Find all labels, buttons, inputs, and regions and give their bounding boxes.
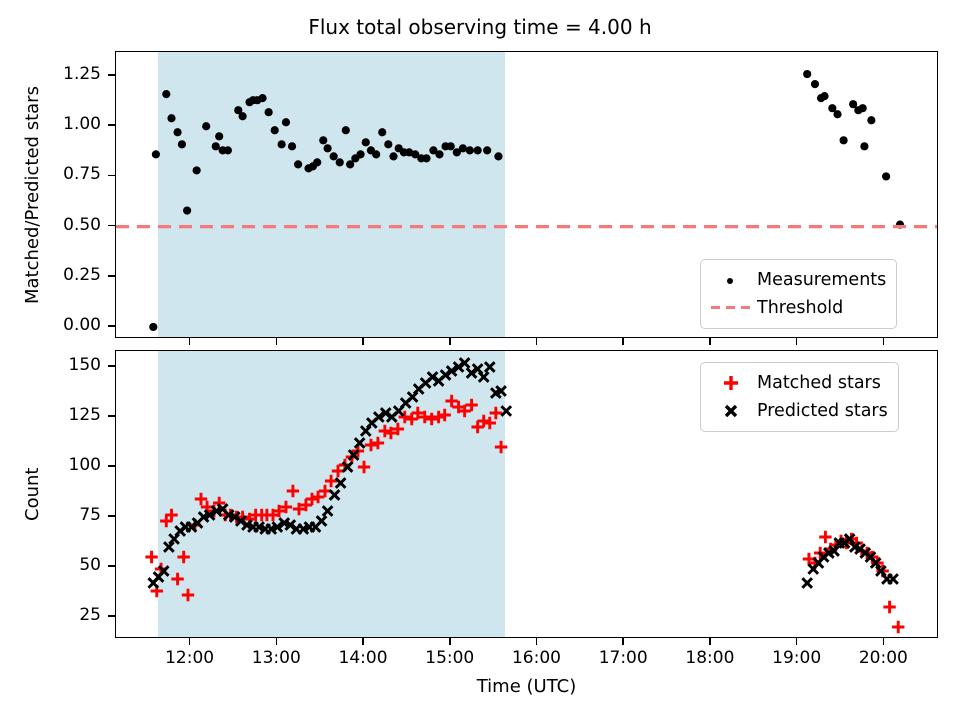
figure-title: Flux total observing time = 4.00 h — [0, 14, 960, 40]
matched-star-point — [306, 493, 318, 505]
top-y-tick-label: 0.25 — [0, 265, 101, 285]
legend-label-measurements: Measurements — [753, 270, 886, 290]
x-tick-label: 15:00 — [425, 648, 474, 668]
matched-star-point — [145, 551, 157, 563]
measurement-point — [162, 90, 170, 98]
measurement-point — [860, 142, 868, 150]
measurement-point — [494, 152, 502, 160]
legend-label-predicted-stars: Predicted stars — [753, 401, 888, 421]
measurement-point — [330, 152, 338, 160]
measurement-point — [149, 323, 157, 331]
top-x-tick-mark — [536, 338, 538, 345]
bottom-y-tick-mark — [108, 515, 115, 517]
bottom-panel-y-axis-label: Count — [22, 467, 43, 520]
top-y-tick-mark — [108, 325, 115, 327]
measurement-point — [435, 150, 443, 158]
top-x-tick-mark — [709, 338, 711, 345]
top-x-tick-mark — [189, 338, 191, 345]
x-axis-label: Time (UTC) — [115, 676, 938, 697]
measurement-point — [183, 206, 191, 214]
bottom-y-tick-label: 100 — [0, 455, 101, 475]
top-x-tick-mark — [622, 338, 624, 345]
x-tick-label: 16:00 — [512, 648, 561, 668]
measurements-dot-icon — [709, 266, 753, 294]
predicted-star-point — [336, 478, 346, 488]
measurement-point — [265, 108, 273, 116]
matched-star-point — [819, 531, 831, 543]
measurement-point — [447, 142, 455, 150]
matched-star-point — [471, 421, 483, 433]
top-panel-legend: Measurements Threshold — [700, 259, 897, 329]
measurement-point — [859, 104, 867, 112]
matched-star-point — [195, 493, 207, 505]
top-y-tick-mark — [108, 74, 115, 76]
legend-item-matched-stars[interactable]: Matched stars — [709, 369, 888, 397]
predicted-star-point — [479, 372, 489, 382]
measurement-point — [313, 158, 321, 166]
top-x-tick-mark — [796, 338, 798, 345]
predicted-cross-icon — [709, 397, 753, 425]
matched-star-point — [372, 437, 384, 449]
bottom-y-tick-label: 125 — [0, 405, 101, 425]
top-y-tick-label: 0.50 — [0, 215, 101, 235]
bottom-y-tick-label: 75 — [0, 505, 101, 525]
measurement-point — [378, 128, 386, 136]
x-tick-label: 13:00 — [252, 648, 301, 668]
predicted-star-point — [317, 516, 327, 526]
bottom-x-tick-mark — [449, 638, 451, 645]
matched-star-point — [312, 491, 324, 503]
measurement-point — [820, 92, 828, 100]
measurement-point — [173, 128, 181, 136]
top-y-tick-mark — [108, 275, 115, 277]
matched-star-point — [495, 441, 507, 453]
matched-star-point — [484, 417, 496, 429]
top-x-tick-mark — [883, 338, 885, 345]
measurement-point — [483, 146, 491, 154]
measurement-point — [152, 150, 160, 158]
measurement-point — [466, 146, 474, 154]
top-x-tick-mark — [276, 338, 278, 345]
top-y-tick-label: 0.75 — [0, 164, 101, 184]
bottom-y-tick-mark — [108, 365, 115, 367]
measurement-point — [362, 138, 370, 146]
measurement-point — [324, 144, 332, 152]
legend-item-threshold[interactable]: Threshold — [709, 294, 886, 322]
matched-star-point — [358, 461, 370, 473]
measurement-point — [389, 152, 397, 160]
bottom-y-tick-mark — [108, 465, 115, 467]
matched-star-point — [490, 407, 502, 419]
measurement-point — [271, 126, 279, 134]
predicted-star-point — [330, 490, 340, 500]
predicted-star-point — [501, 406, 511, 416]
top-y-tick-mark — [108, 175, 115, 177]
top-y-tick-label: 1.00 — [0, 114, 101, 134]
measurement-point — [178, 140, 186, 148]
legend-label-matched-stars: Matched stars — [753, 373, 881, 393]
bottom-x-tick-mark — [622, 638, 624, 645]
measurement-point — [258, 94, 266, 102]
measurement-point — [833, 110, 841, 118]
bottom-x-tick-mark — [709, 638, 711, 645]
measurement-point — [278, 140, 286, 148]
measurement-point — [356, 150, 364, 158]
threshold-dashed-line-icon — [709, 294, 753, 322]
matched-star-point — [406, 413, 418, 425]
matched-plus-icon — [709, 369, 753, 397]
top-y-tick-label: 0.00 — [0, 315, 101, 335]
measurement-point — [193, 166, 201, 174]
x-tick-label: 19:00 — [772, 648, 821, 668]
bottom-x-tick-mark — [189, 638, 191, 645]
matched-star-point — [365, 439, 377, 451]
measurement-point — [811, 80, 819, 88]
predicted-star-point — [323, 506, 333, 516]
predicted-star-point — [164, 542, 174, 552]
x-tick-label: 14:00 — [339, 648, 388, 668]
bottom-y-tick-mark — [108, 415, 115, 417]
top-x-tick-mark — [362, 338, 364, 345]
matched-star-point — [325, 475, 337, 487]
x-tick-label: 20:00 — [859, 648, 908, 668]
predicted-star-point — [355, 438, 365, 448]
legend-item-measurements[interactable]: Measurements — [709, 266, 886, 294]
bottom-x-tick-mark — [276, 638, 278, 645]
predicted-star-point — [485, 362, 495, 372]
matched-star-point — [171, 573, 183, 585]
bottom-y-tick-mark — [108, 615, 115, 617]
matched-star-point — [182, 589, 194, 601]
bottom-panel-legend: Matched stars Predicted stars — [700, 362, 899, 432]
measurement-point — [840, 136, 848, 144]
matched-star-point — [425, 413, 437, 425]
measurement-point — [215, 132, 223, 140]
top-panel-y-axis-label: Matched/Predicted stars — [22, 86, 43, 304]
top-y-tick-mark — [108, 225, 115, 227]
bottom-x-tick-mark — [362, 638, 364, 645]
matched-star-point — [465, 399, 477, 411]
x-tick-label: 12:00 — [165, 648, 214, 668]
measurement-point — [342, 126, 350, 134]
predicted-star-point — [802, 578, 812, 588]
matched-star-point — [177, 551, 189, 563]
measurement-point — [288, 142, 296, 150]
measurement-point — [239, 112, 247, 120]
matched-star-point — [892, 621, 904, 633]
matched-star-point — [287, 485, 299, 497]
matched-star-point — [438, 409, 450, 421]
measurement-point — [459, 144, 467, 152]
x-tick-label: 17:00 — [599, 648, 648, 668]
legend-item-predicted-stars[interactable]: Predicted stars — [709, 397, 888, 425]
measurement-point — [384, 140, 392, 148]
bottom-y-tick-label: 150 — [0, 355, 101, 375]
top-y-tick-mark — [108, 124, 115, 126]
measurement-point — [282, 118, 290, 126]
measurement-point — [319, 136, 327, 144]
bottom-x-tick-mark — [536, 638, 538, 645]
matched-star-point — [883, 601, 895, 613]
matched-star-point — [445, 395, 457, 407]
measurement-point — [422, 154, 430, 162]
measurement-point — [212, 142, 220, 150]
x-tick-label: 18:00 — [685, 648, 734, 668]
bottom-x-tick-mark — [796, 638, 798, 645]
figure-canvas: Flux total observing time = 4.00 h 0.000… — [0, 0, 960, 720]
top-y-tick-label: 1.25 — [0, 64, 101, 84]
top-x-tick-mark — [449, 338, 451, 345]
predicted-star-point — [888, 574, 898, 584]
measurement-point — [167, 114, 175, 122]
measurement-point — [224, 146, 232, 154]
matched-star-point — [478, 415, 490, 427]
measurement-point — [867, 116, 875, 124]
measurement-point — [202, 122, 210, 130]
measurement-point — [882, 172, 890, 180]
measurement-point — [803, 70, 811, 78]
legend-label-threshold: Threshold — [753, 298, 843, 318]
matched-star-point — [379, 425, 391, 437]
matched-star-point — [432, 411, 444, 423]
bottom-x-tick-mark — [883, 638, 885, 645]
measurement-point — [336, 158, 344, 166]
bottom-y-tick-label: 25 — [0, 605, 101, 625]
measurement-point — [474, 146, 482, 154]
bottom-y-tick-label: 50 — [0, 555, 101, 575]
measurement-point — [294, 160, 302, 168]
measurement-point — [372, 150, 380, 158]
bottom-y-tick-mark — [108, 565, 115, 567]
